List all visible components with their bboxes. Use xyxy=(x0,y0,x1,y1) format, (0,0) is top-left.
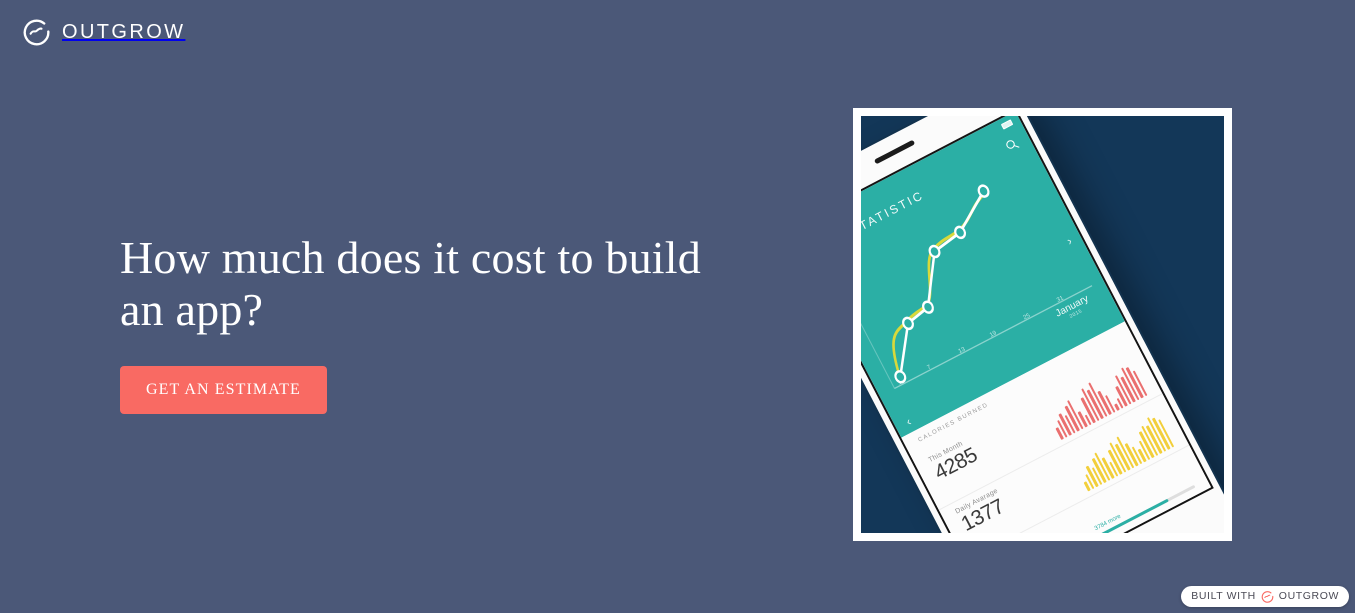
built-with-outgrow-badge[interactable]: BUILT WITH OUTGROW xyxy=(1181,586,1349,607)
phone-device: 4:21 PM LIFE STATISTIC xyxy=(861,116,1224,533)
page-title: How much does it cost to build an app? xyxy=(120,232,740,335)
get-an-estimate-button[interactable]: GET AN ESTIMATE xyxy=(120,366,327,414)
progress-fill xyxy=(1098,499,1169,533)
outgrow-circle-icon xyxy=(22,17,51,46)
phone-body: 4:21 PM LIFE STATISTIC xyxy=(861,116,1224,533)
progress-track xyxy=(1098,485,1195,533)
badge-brand: OUTGROW xyxy=(1279,591,1339,602)
prev-month-button[interactable]: ‹ xyxy=(904,415,914,429)
badge-prefix: BUILT WITH xyxy=(1191,591,1256,602)
phone-mockup-scene: 4:21 PM LIFE STATISTIC xyxy=(861,116,1224,533)
x-tick-19: 19 xyxy=(989,331,998,339)
phone-speaker xyxy=(874,140,915,165)
x-tick-25: 25 xyxy=(1023,313,1032,321)
outgrow-circle-icon xyxy=(1261,590,1274,603)
brand-logo[interactable]: OUTGROW xyxy=(22,17,185,46)
search-icon[interactable] xyxy=(1003,136,1021,154)
brand-name: OUTGROW xyxy=(62,22,185,42)
site-header: OUTGROW xyxy=(0,0,1355,62)
hero-image-panel: 4:21 PM LIFE STATISTIC xyxy=(853,108,1232,541)
page-title-line-1: How much does it cost to build xyxy=(120,232,701,283)
hero-copy: How much does it cost to build an app? G… xyxy=(120,232,740,414)
x-tick-31: 31 xyxy=(1056,296,1065,304)
x-tick-7: 7 xyxy=(927,365,933,372)
battery-icon xyxy=(1001,119,1014,129)
x-tick-1: 1 xyxy=(898,380,904,387)
x-tick-13: 13 xyxy=(958,347,967,355)
page-title-line-2: an app? xyxy=(120,284,263,335)
chart-point xyxy=(977,184,990,198)
phone-screen: 4:21 PM LIFE STATISTIC xyxy=(861,116,1214,533)
